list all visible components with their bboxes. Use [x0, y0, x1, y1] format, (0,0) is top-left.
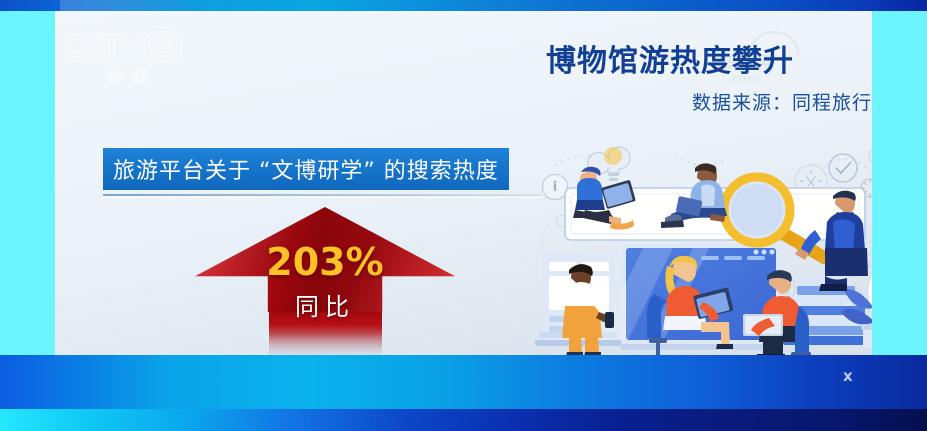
stat-value: 203%	[195, 240, 455, 284]
data-source-label: 数据来源：同程旅行	[546, 88, 872, 115]
cctv-logo-letters: CCTV	[63, 30, 141, 63]
caption-underline	[103, 194, 543, 196]
close-icon[interactable]: x	[843, 367, 853, 385]
bottom-accent-bar: x	[0, 355, 927, 431]
cctv-logo-number: 2	[144, 31, 182, 63]
headline-block: 博物馆游热度攀升 数据来源：同程旅行	[546, 36, 872, 115]
caption-underline-highlight	[103, 197, 543, 198]
main-graphic-panel: CCTV2 财经 央视网 .com 博物馆游热度攀升 数据来源：同程旅行 旅游平…	[55, 11, 872, 355]
right-cyan-rail	[872, 11, 927, 355]
cctv-logo-subtitle: 财经	[63, 66, 203, 87]
search-illustration	[525, 126, 872, 355]
stat-label: 同比	[195, 287, 455, 322]
caption-bar: 旅游平台关于 “文博研学” 的搜索热度	[103, 148, 509, 190]
bottom-gradient-strip	[0, 409, 927, 431]
broadcast-screen: CCTV2 财经 央视网 .com 博物馆游热度攀升 数据来源：同程旅行 旅游平…	[0, 0, 927, 431]
caption-text: 旅游平台关于 “文博研学” 的搜索热度	[113, 153, 499, 185]
left-cyan-rail	[0, 11, 55, 355]
growth-arrow: 203% 同比	[195, 207, 455, 355]
cctv-logo-underline	[65, 61, 183, 62]
page-title: 博物馆游热度攀升	[546, 36, 872, 80]
cctv-logo: CCTV2 财经	[63, 31, 203, 93]
cctv-logo-text: CCTV2	[63, 31, 203, 63]
top-accent-bar	[0, 0, 927, 11]
